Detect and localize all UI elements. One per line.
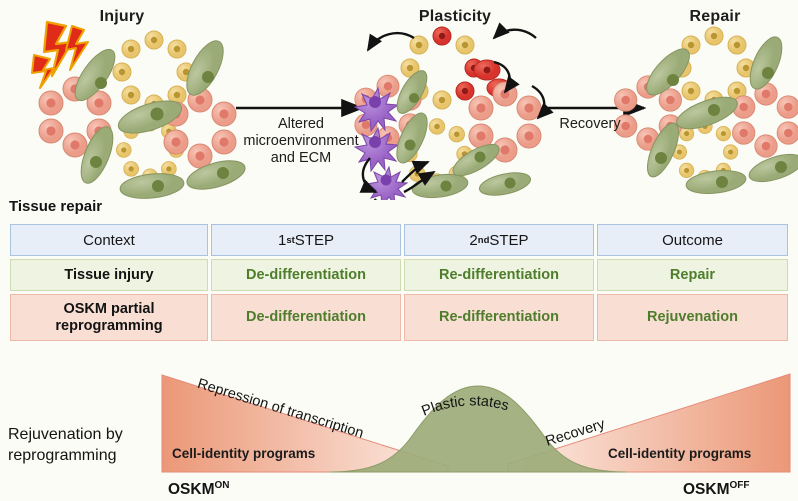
table-row: OSKM partial reprogramming De-differenti… — [10, 294, 789, 341]
region-label-right: Cell-identity programs — [608, 446, 751, 461]
figure-root: Injury Plasticity Repair Altered microen… — [0, 0, 798, 501]
tissue-stages-illustration — [0, 0, 798, 200]
arrow-caption-altered-microenvironment: Altered microenvironment and ECM — [228, 116, 374, 167]
table-header-context: Context — [10, 224, 208, 256]
section-label-tissue-repair: Tissue repair — [9, 198, 102, 215]
cell-context-tissue-injury: Tissue injury — [10, 259, 208, 291]
panel-title-plasticity: Plasticity — [390, 8, 520, 26]
oskm-on-text: OSKM — [168, 481, 215, 498]
table-header-row: Context 1st STEP 2nd STEP Outcome — [10, 224, 789, 256]
step1-ordinal: st — [286, 232, 294, 249]
oskm-on-state: ON — [215, 480, 230, 491]
step2-num: 2 — [469, 232, 477, 249]
step2-word: STEP — [489, 232, 528, 249]
plastic-cell — [367, 167, 407, 200]
stromal-cell — [685, 167, 747, 196]
panel-repair-cells — [615, 27, 798, 197]
cell-step1-oskm: De-differentiation — [211, 294, 401, 341]
caption-line-1: Altered — [228, 116, 374, 133]
panel-plasticity-cells — [355, 27, 544, 200]
oskm-context-line-2: reprogramming — [55, 318, 162, 335]
arrow-caption-recovery: Recovery — [540, 116, 640, 133]
panel-injury-cells — [32, 22, 248, 200]
table-row: Tissue injury De-differentiation Re-diff… — [10, 259, 789, 291]
ductal-ring — [113, 31, 195, 113]
caption-line-3: and ECM — [228, 150, 374, 167]
caption-line-1: Recovery — [540, 116, 640, 133]
cell-outcome-tissue-injury: Repair — [597, 259, 788, 291]
oskm-context-line-1: OSKM partial — [55, 301, 162, 318]
region-label-left: Cell-identity programs — [172, 446, 315, 461]
tissue-repair-table: Context 1st STEP 2nd STEP Outcome Tissue… — [10, 224, 789, 341]
table-header-outcome: Outcome — [597, 224, 788, 256]
step1-num: 1 — [278, 232, 286, 249]
panel-title-repair: Repair — [660, 8, 770, 26]
cell-outcome-oskm: Rejuvenation — [597, 294, 788, 341]
cell-step2-tissue-injury: Re-differentiation — [404, 259, 594, 291]
cell-step2-oskm: Re-differentiation — [404, 294, 594, 341]
cell-step1-tissue-injury: De-differentiation — [211, 259, 401, 291]
rejuvenation-chart: Cell-identity programs Cell-identity pro… — [0, 352, 798, 501]
oskm-off-text: OSKM — [683, 481, 730, 498]
axis-label-oskm-off: OSKMOFF — [683, 480, 750, 499]
cell-context-oskm: OSKM partial reprogramming — [10, 294, 208, 341]
step1-word: STEP — [295, 232, 334, 249]
table-header-step1: 1st STEP — [211, 224, 401, 256]
table-header-step2: 2nd STEP — [404, 224, 594, 256]
stromal-cell — [477, 169, 532, 199]
caption-line-2: microenvironment — [228, 133, 374, 150]
panel-title-injury: Injury — [62, 8, 182, 26]
axis-label-oskm-on: OSKMON — [168, 480, 230, 499]
step2-ordinal: nd — [478, 232, 490, 249]
oskm-off-state: OFF — [730, 480, 750, 491]
